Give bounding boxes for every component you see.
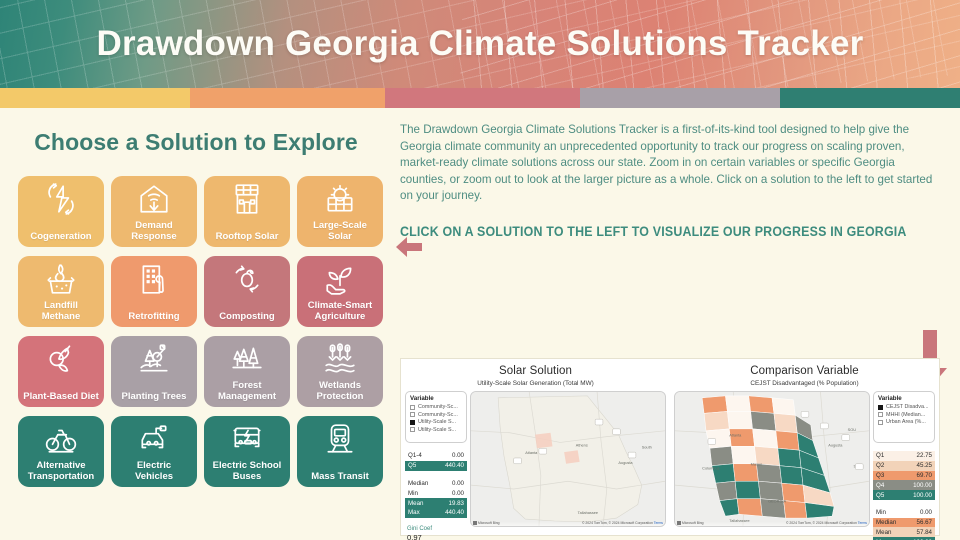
solution-tile-label: Electric SchoolBuses	[204, 460, 290, 482]
checkbox-icon[interactable]	[410, 427, 415, 432]
solution-tile-rooftop-solar[interactable]: Rooftop Solar	[204, 176, 290, 247]
solar-quintile-value: 440.40	[445, 462, 464, 469]
comparison-stat-label: Mean	[876, 529, 891, 536]
comparison-stat-row: Min0.00	[873, 508, 935, 518]
retrofitting-icon	[137, 262, 171, 296]
comparison-variable-title: Variable	[878, 395, 930, 402]
comparison-quintile-value: 45.25	[917, 462, 932, 469]
solution-tile-label: Mass Transit	[297, 471, 383, 482]
solar-variable-list: Community-Sc...Community-Sc...Utility-Sc…	[410, 404, 462, 433]
checkbox-icon[interactable]	[410, 420, 415, 425]
solution-tile-label: Planting Trees	[111, 391, 197, 402]
solar-variable-label: Utility-Scale S...	[418, 427, 456, 433]
comparison-quintile-row: Q245.25	[873, 461, 935, 471]
solution-tile-composting[interactable]: Composting	[204, 256, 290, 327]
solar-solution-title: Solar Solution	[401, 359, 670, 377]
svg-text:SOU: SOU	[848, 427, 857, 432]
solar-stat-row: Mean19.83	[405, 498, 467, 508]
comparison-variable-item[interactable]: Urban Area (%...	[878, 419, 930, 425]
svg-text:South: South	[642, 444, 652, 449]
planting-trees-icon	[137, 342, 171, 376]
solution-tile-wetlands-protection[interactable]: WetlandsProtection	[297, 336, 383, 407]
comparison-quintile-row: Q4100.00	[873, 480, 935, 490]
comparison-map-graphic: Atlanta Macon Columbus Augusta SOU GEORG…	[675, 392, 869, 527]
solar-solution-panel: Solar Solution Utility-Scale Solar Gener…	[401, 359, 670, 535]
solar-quintile-table: Q1-40.00Q5440.40	[405, 451, 467, 471]
comparison-stats-table: Min0.00Median56.67Mean57.84Max100.00	[873, 508, 935, 540]
checkbox-icon[interactable]	[410, 405, 415, 410]
solar-map-attribution: Microsoft Bing © 2024 TomTom, © 2024 Mic…	[471, 521, 665, 526]
solution-tile-cogeneration[interactable]: Cogeneration	[18, 176, 104, 247]
solution-tile-forest-management[interactable]: ForestManagement	[204, 336, 290, 407]
cta-text: CLICK ON A SOLUTION TO THE LEFT TO VISUA…	[400, 224, 907, 239]
solution-tile-demand-response[interactable]: DemandResponse	[111, 176, 197, 247]
solution-tile-label: Retrofitting	[111, 311, 197, 322]
forest-management-icon	[230, 342, 264, 376]
comparison-quintile-label: Q3	[876, 472, 884, 479]
band-orange	[190, 88, 385, 108]
solar-attr-left: Microsoft Bing	[478, 521, 499, 525]
comparison-stat-label: Median	[876, 519, 896, 526]
comparison-variable-subtitle: CEJST Disadvantaged (% Population)	[670, 377, 939, 387]
solar-stat-row: Max440.40	[405, 508, 467, 518]
solar-map-terms-link[interactable]: Terms	[654, 521, 663, 525]
comparison-variable-slicer[interactable]: Variable CEJST Disadva...MHHI (Median...…	[873, 391, 935, 443]
landfill-methane-icon	[44, 262, 78, 296]
comparison-attr-right: © 2024 TomTom, © 2024 Microsoft Corporat…	[786, 521, 857, 525]
solution-tile-label: Cogeneration	[18, 231, 104, 242]
solar-quintile-value: 0.00	[452, 452, 464, 459]
comparison-variable-panel: Comparison Variable CEJST Disadvantaged …	[670, 359, 939, 535]
band-teal	[780, 88, 960, 108]
solution-tile-grid: CogenerationDemandResponseRooftop SolarL…	[18, 176, 392, 487]
solar-stat-value: 19.83	[449, 500, 464, 507]
comparison-stat-label: Min	[876, 509, 886, 516]
solution-tile-electric-vehicles[interactable]: ElectricVehicles	[111, 416, 197, 487]
comparison-side-controls: Variable CEJST Disadva...MHHI (Median...…	[873, 391, 935, 527]
solution-tile-plant-based-diet[interactable]: Plant-Based Diet	[18, 336, 104, 407]
comparison-quintile-value: 100.00	[913, 492, 932, 499]
svg-text:Atlanta: Atlanta	[525, 450, 538, 455]
solution-tile-label: ElectricVehicles	[111, 460, 197, 482]
color-band	[0, 88, 960, 108]
comparison-variable-title: Comparison Variable	[670, 359, 939, 377]
solar-stat-value: 0.00	[452, 490, 464, 497]
composting-icon	[230, 262, 264, 296]
electric-school-buses-icon	[230, 422, 264, 456]
rooftop-solar-icon	[230, 182, 264, 216]
solution-tile-label: Composting	[204, 311, 290, 322]
solution-tile-label: Plant-Based Diet	[18, 391, 104, 402]
mass-transit-icon	[323, 422, 357, 456]
solar-stat-label: Median	[408, 480, 428, 487]
svg-text:Tallahassee: Tallahassee	[578, 510, 598, 515]
comparison-map-attribution: Microsoft Bing © 2024 TomTom, © 2024 Mic…	[675, 521, 869, 526]
band-mauve	[580, 88, 780, 108]
solution-tile-label: LandfillMethane	[18, 300, 104, 322]
comparison-stat-value: 0.00	[920, 509, 932, 516]
comparison-quintile-label: Q5	[876, 492, 884, 499]
solution-tile-label: WetlandsProtection	[297, 380, 383, 402]
solar-stat-label: Mean	[408, 500, 423, 507]
electric-vehicles-icon	[137, 422, 171, 456]
comparison-variable-label: CEJST Disadva...	[886, 404, 928, 410]
comparison-quintile-value: 22.75	[917, 452, 932, 459]
band-yellow	[0, 88, 190, 108]
alternative-transportation-icon	[44, 422, 78, 456]
svg-text:Athens: Athens	[576, 442, 588, 447]
band-rose	[385, 88, 580, 108]
solution-tile-landfill-methane[interactable]: LandfillMethane	[18, 256, 104, 327]
svg-text:GEORGIA: GEORGIA	[768, 499, 786, 504]
solar-stat-row: Median0.00	[405, 479, 467, 489]
solution-chooser-panel: Choose a Solution to Explore Cogeneratio…	[0, 108, 392, 540]
svg-text:Augusta: Augusta	[618, 460, 633, 465]
cogeneration-icon	[44, 182, 78, 216]
demand-response-icon	[137, 182, 171, 216]
solution-tile-label: AlternativeTransportation	[18, 460, 104, 482]
svg-text:Macon: Macon	[751, 462, 763, 467]
solar-gini-label: Gini Coef	[407, 526, 467, 532]
page-title: Drawdown Georgia Climate Solutions Track…	[0, 0, 960, 88]
solar-variable-slicer[interactable]: Variable Community-Sc...Community-Sc...U…	[405, 391, 467, 443]
large-scale-solar-icon	[323, 182, 357, 216]
solution-tile-electric-school-buses[interactable]: Electric SchoolBuses	[204, 416, 290, 487]
solution-tile-climate-smart-agriculture[interactable]: Climate-SmartAgriculture	[297, 256, 383, 327]
checkbox-icon[interactable]	[878, 405, 883, 410]
solar-variable-item[interactable]: Utility-Scale S...	[410, 427, 462, 433]
checkbox-icon[interactable]	[878, 420, 883, 425]
comparison-variable-item[interactable]: CEJST Disadva...	[878, 404, 930, 410]
comparison-quintile-value: 100.00	[913, 482, 932, 489]
comparison-map-terms-link[interactable]: Terms	[858, 521, 867, 525]
plant-based-diet-icon	[44, 342, 78, 376]
solar-quintile-label: Q1-4	[408, 452, 422, 459]
solar-map-graphic: Atlanta Athens Augusta South Tallahassee	[471, 392, 665, 527]
solution-tile-label: Large-ScaleSolar	[297, 220, 383, 242]
solar-gini-card: Gini Coef 0.97	[405, 526, 467, 540]
comparison-variable-item[interactable]: MHHI (Median...	[878, 412, 930, 418]
choose-solution-heading: Choose a Solution to Explore	[0, 108, 392, 156]
wetlands-protection-icon	[323, 342, 357, 376]
climate-smart-agriculture-icon	[323, 262, 357, 296]
solution-tile-label: ForestManagement	[204, 380, 290, 402]
power-bi-dashboard[interactable]: Solar Solution Utility-Scale Solar Gener…	[400, 358, 940, 536]
solar-variable-title: Variable	[410, 395, 462, 402]
solution-tile-large-scale-solar[interactable]: Large-ScaleSolar	[297, 176, 383, 247]
comparison-variable-label: Urban Area (%...	[886, 419, 926, 425]
solar-solution-subtitle: Utility-Scale Solar Generation (Total MW…	[401, 377, 670, 387]
solar-stat-value: 440.40	[445, 509, 464, 516]
comparison-variable-label: MHHI (Median...	[886, 412, 925, 418]
solution-tile-planting-trees[interactable]: Planting Trees	[111, 336, 197, 407]
comparison-stat-value: 56.67	[917, 519, 932, 526]
comparison-quintile-table: Q122.75Q245.25Q369.70Q4100.00Q5100.00	[873, 451, 935, 500]
solar-quintile-label: Q5	[408, 462, 416, 469]
solar-variable-label: Community-Sc...	[418, 404, 458, 410]
checkbox-icon[interactable]	[878, 412, 883, 417]
comparison-stat-row: Mean57.84	[873, 527, 935, 537]
info-and-dashboard-panel: The Drawdown Georgia Climate Solutions T…	[392, 108, 960, 540]
comparison-stat-row: Median56.67	[873, 518, 935, 528]
cta-row: CLICK ON A SOLUTION TO THE LEFT TO VISUA…	[392, 214, 960, 250]
intro-paragraph: The Drawdown Georgia Climate Solutions T…	[392, 108, 960, 205]
solar-quintile-row: Q1-40.00	[405, 451, 467, 461]
checkbox-icon[interactable]	[410, 412, 415, 417]
solar-quintile-row: Q5440.40	[405, 461, 467, 471]
solar-attr-right: © 2024 TomTom, © 2024 Microsoft Corporat…	[582, 521, 653, 525]
comparison-stat-value: 57.84	[917, 529, 932, 536]
comparison-quintile-label: Q4	[876, 482, 884, 489]
comparison-georgia-map[interactable]: Atlanta Macon Columbus Augusta SOU GEORG…	[674, 391, 870, 527]
comparison-quintile-label: Q1	[876, 452, 884, 459]
solution-tile-alternative-transportation[interactable]: AlternativeTransportation	[18, 416, 104, 487]
solar-side-controls: Variable Community-Sc...Community-Sc...U…	[405, 391, 467, 527]
comparison-quintile-value: 69.70	[917, 472, 932, 479]
solar-gini-value: 0.97	[407, 533, 467, 540]
solar-variable-item[interactable]: Community-Sc...	[410, 412, 462, 418]
solar-variable-item[interactable]: Utility-Scale S...	[410, 419, 462, 425]
solution-tile-label: Rooftop Solar	[204, 231, 290, 242]
solution-tile-label: DemandResponse	[111, 220, 197, 242]
comparison-quintile-row: Q5100.00	[873, 490, 935, 500]
solar-variable-label: Community-Sc...	[418, 412, 458, 418]
comparison-quintile-label: Q2	[876, 462, 884, 469]
solar-stat-label: Min	[408, 490, 418, 497]
solar-georgia-map[interactable]: Atlanta Athens Augusta South Tallahassee	[470, 391, 666, 527]
svg-text:Columbus: Columbus	[702, 466, 719, 471]
solar-stat-value: 0.00	[452, 480, 464, 487]
comparison-quintile-row: Q122.75	[873, 451, 935, 461]
main-content: Choose a Solution to Explore Cogeneratio…	[0, 108, 960, 540]
solar-variable-label: Utility-Scale S...	[418, 419, 456, 425]
solution-tile-retrofitting[interactable]: Retrofitting	[111, 256, 197, 327]
solar-stat-label: Max	[408, 509, 420, 516]
svg-text:Atlanta: Atlanta	[729, 433, 742, 438]
solar-stats-table: Median0.00Min0.00Mean19.83Max440.40	[405, 479, 467, 518]
comparison-variable-list: CEJST Disadva...MHHI (Median...Urban Are…	[878, 404, 930, 425]
comparison-quintile-row: Q369.70	[873, 471, 935, 481]
comparison-attr-left: Microsoft Bing	[682, 521, 703, 525]
solar-stat-row: Min0.00	[405, 488, 467, 498]
solution-tile-label: Climate-SmartAgriculture	[297, 300, 383, 322]
page-header: Drawdown Georgia Climate Solutions Track…	[0, 0, 960, 88]
svg-text:Augusta: Augusta	[828, 442, 843, 447]
solar-variable-item[interactable]: Community-Sc...	[410, 404, 462, 410]
solution-tile-mass-transit[interactable]: Mass Transit	[297, 416, 383, 487]
